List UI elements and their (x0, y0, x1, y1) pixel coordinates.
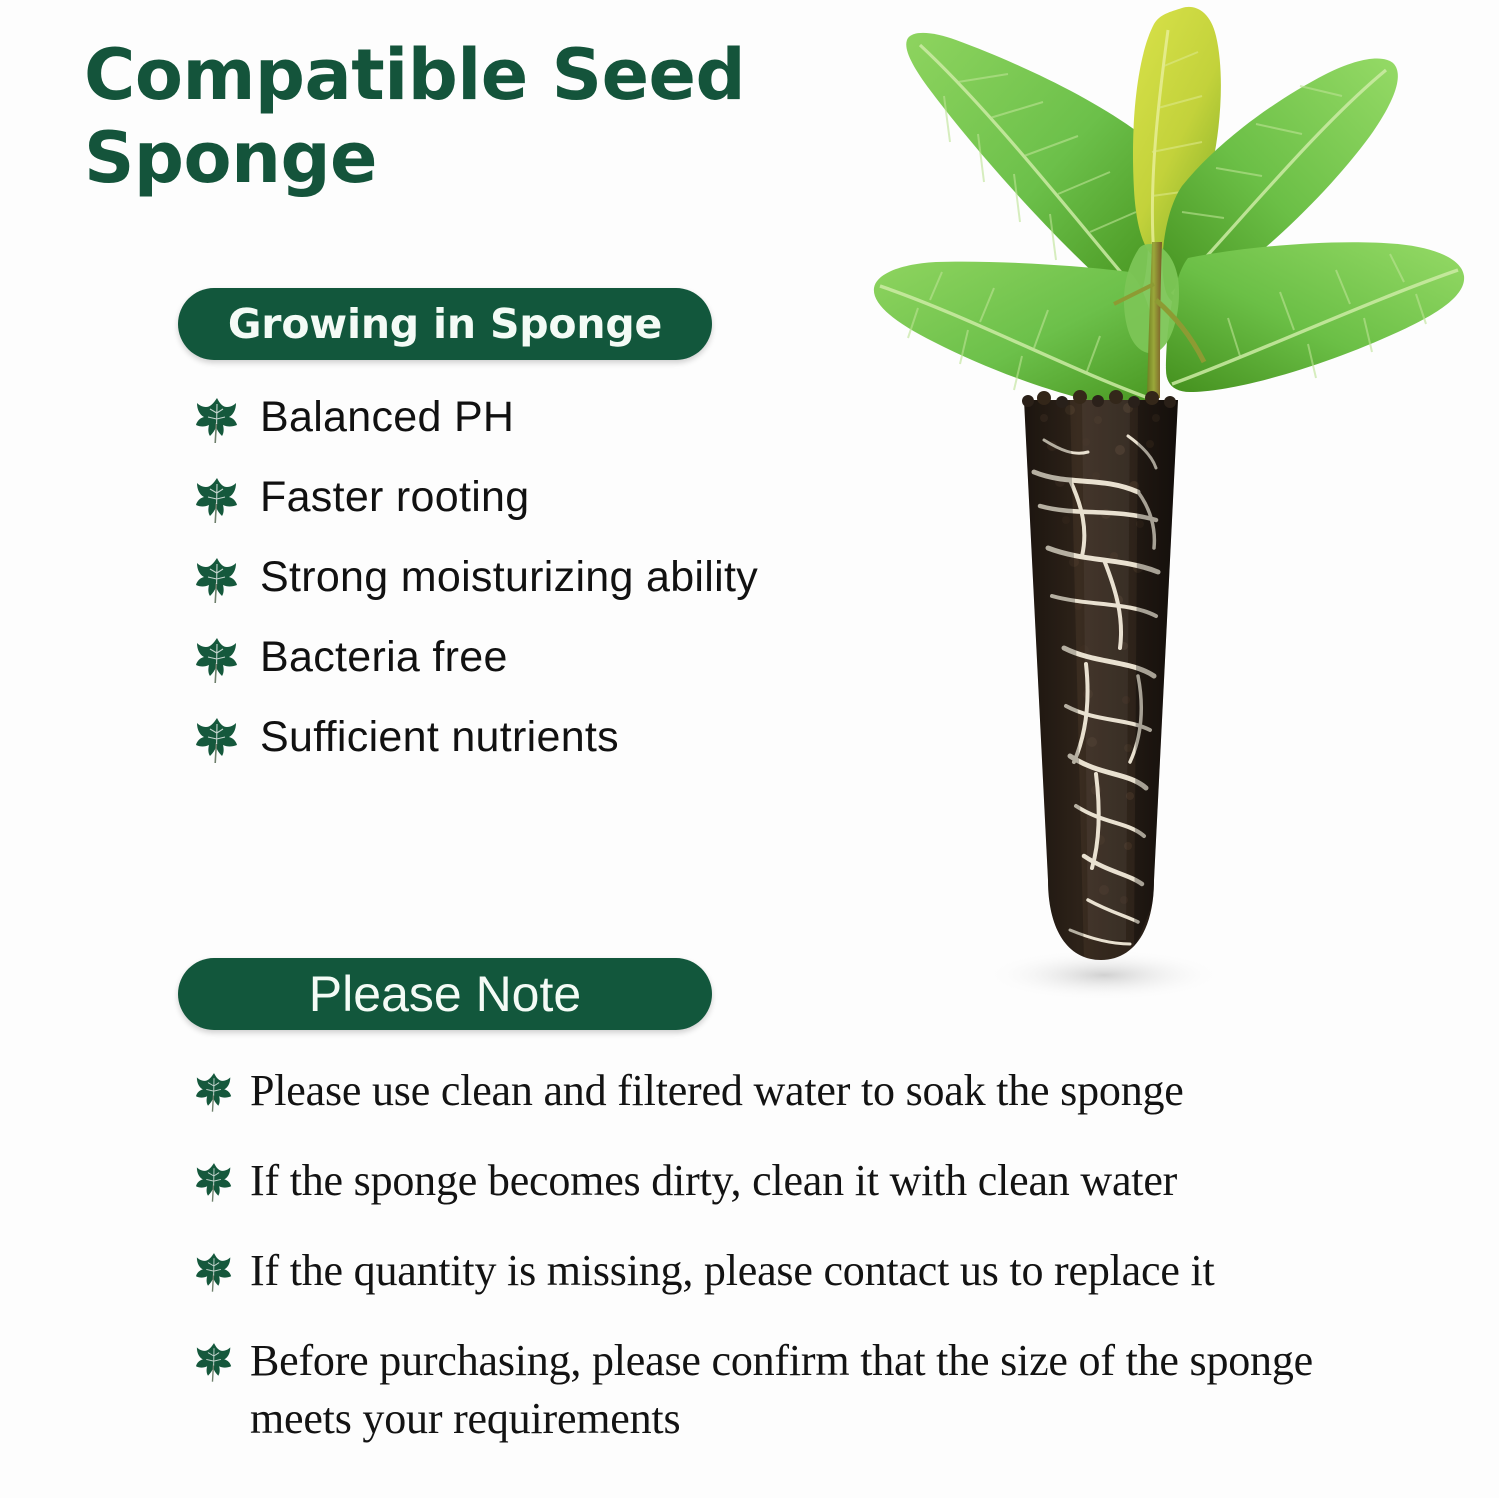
ivy-leaf-icon (196, 556, 238, 604)
seedling-in-seed-sponge-photo (838, 0, 1499, 1010)
ivy-leaf-icon (196, 476, 238, 524)
ivy-leaf-icon (196, 636, 238, 684)
ivy-leaf-icon (196, 396, 238, 444)
list-item-label: Sufficient nutrients (260, 712, 619, 762)
list-item-label: Faster rooting (260, 472, 530, 522)
please-note-badge-label: Please Note (309, 969, 581, 1019)
list-item: If the quantity is missing, please conta… (196, 1242, 1446, 1300)
ivy-leaf-icon (196, 1250, 232, 1294)
list-item-label: Before purchasing, please confirm that t… (250, 1332, 1360, 1448)
growing-in-sponge-badge-label: Growing in Sponge (228, 304, 662, 345)
list-item-label: If the quantity is missing, please conta… (250, 1242, 1215, 1300)
list-item-label: Strong moisturizing ability (260, 552, 758, 602)
leaf-mid-right (1166, 242, 1464, 392)
growing-in-sponge-badge: Growing in Sponge (178, 288, 712, 360)
leaf-upper-left (906, 33, 1148, 299)
page-title: Compatible Seed Sponge (84, 34, 844, 199)
ivy-leaf-icon (196, 1340, 232, 1384)
list-item-label: Balanced PH (260, 392, 514, 442)
leaf-mid-left (874, 262, 1160, 408)
list-item: If the sponge becomes dirty, clean it wi… (196, 1152, 1446, 1210)
list-item-label: Bacteria free (260, 632, 508, 682)
list-item-label: If the sponge becomes dirty, clean it wi… (250, 1152, 1177, 1210)
infographic-canvas: Compatible Seed Sponge Growing in Sponge… (0, 0, 1499, 1498)
list-item-label: Please use clean and filtered water to s… (250, 1062, 1184, 1120)
seed-sponge-cone (1022, 390, 1178, 960)
please-note-list: Please use clean and filtered water to s… (196, 1062, 1446, 1480)
list-item: Before purchasing, please confirm that t… (196, 1332, 1446, 1448)
please-note-badge: Please Note (178, 958, 712, 1030)
ivy-leaf-icon (196, 1070, 232, 1114)
seedling-illustration (838, 0, 1499, 1010)
ivy-leaf-icon (196, 1160, 232, 1204)
ivy-leaf-icon (196, 716, 238, 764)
list-item: Please use clean and filtered water to s… (196, 1062, 1446, 1120)
